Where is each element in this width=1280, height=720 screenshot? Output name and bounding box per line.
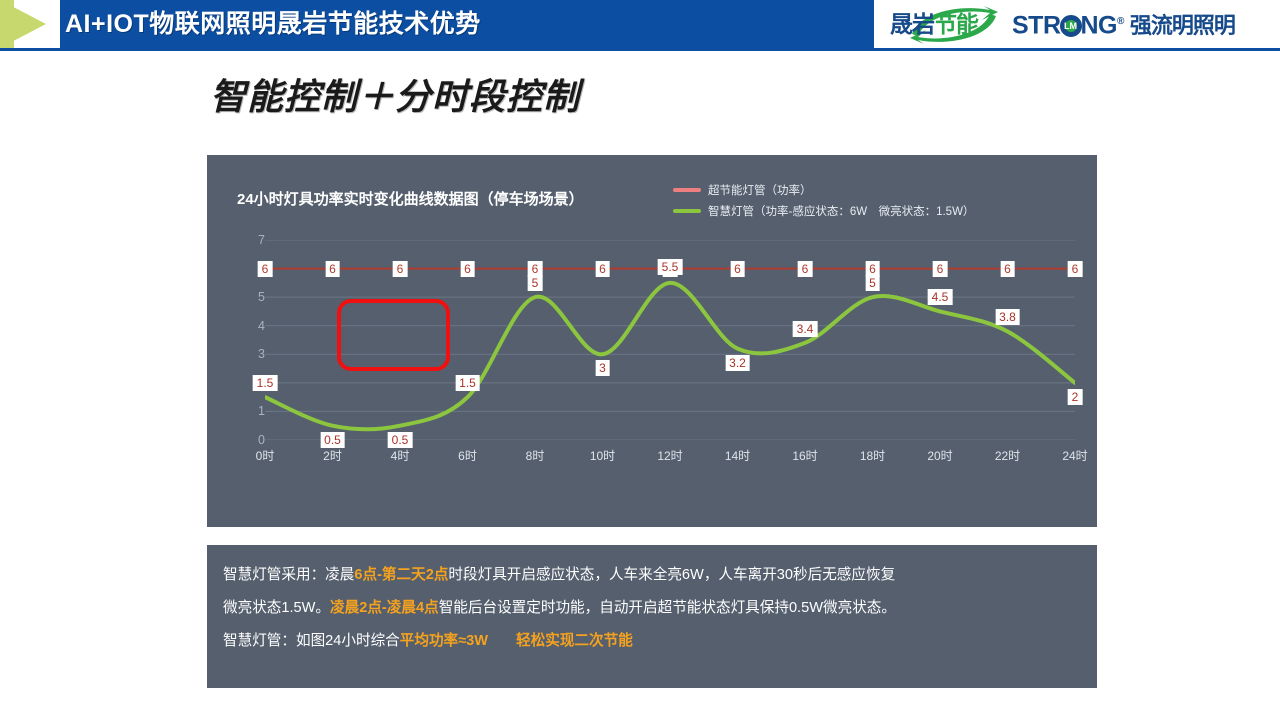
header-arrow-decoration — [0, 0, 60, 48]
header-underline — [0, 48, 1280, 51]
x-axis-tick: 24时 — [1062, 447, 1087, 464]
x-axis-tick: 20时 — [927, 447, 952, 464]
data-point-label: 3.8 — [995, 309, 1020, 325]
notes-line-3-a: 智慧灯管：如图24小时综合 — [223, 633, 400, 649]
x-axis-tick: 4时 — [391, 447, 410, 464]
x-axis-tick: 16时 — [792, 447, 817, 464]
x-axis-tick: 6时 — [458, 447, 477, 464]
data-point-label: 3.4 — [793, 321, 818, 337]
x-axis-tick: 18时 — [860, 447, 885, 464]
notes-line-1-b: 时段灯具开启感应状态，人车来全亮6W，人车离开30秒后无感应恢复 — [448, 567, 895, 583]
data-point-label: 5.5 — [658, 259, 683, 275]
notes-line-3-highlight-1: 平均功率≈3W — [400, 633, 488, 649]
x-axis-tick: 22时 — [995, 447, 1020, 464]
data-point-label: 5 — [865, 275, 880, 291]
logo-text-green: 节能 — [934, 11, 978, 37]
y-axis-tick: 4 — [243, 319, 265, 333]
x-axis-labels: 0时2时4时6时8时10时12时14时16时18时20时22时24时 — [265, 447, 1075, 469]
notes-line-3-highlight-2: 轻松实现二次节能 — [516, 633, 633, 649]
page-title: AI+IOT物联网照明晟岩节能技术优势 — [65, 8, 481, 40]
chart-legend: 超节能灯管（功率） 智慧灯管（功率-感应状态：6W 微亮状态：1.5W） — [673, 179, 974, 221]
data-point-label: 6 — [393, 261, 408, 277]
logo-brand-strong: STRLMNG® — [1012, 7, 1124, 40]
notes-line-1: 智慧灯管采用：凌晨6点-第二天2点时段灯具开启感应状态，人车来全亮6W，人车离开… — [223, 559, 1081, 592]
logo-badge-text: LM — [1065, 20, 1077, 32]
slide-root: AI+IOT物联网照明晟岩节能技术优势 晟岩节能 STRLMNG® 强流明照明 … — [0, 0, 1280, 720]
data-point-label: 0.5 — [388, 432, 413, 448]
data-point-label: 6 — [460, 261, 475, 277]
data-point-label: 5 — [528, 275, 543, 291]
legend-label-series-1: 智慧灯管（功率-感应状态：6W 微亮状态：1.5W） — [708, 203, 974, 219]
legend-item: 智慧灯管（功率-感应状态：6W 微亮状态：1.5W） — [673, 200, 974, 221]
data-point-label: 6 — [595, 261, 610, 277]
logo-chinese-name: 晟岩节能 — [890, 10, 978, 38]
legend-swatch-series-1 — [673, 209, 701, 213]
chart-panel: 24小时灯具功率实时变化曲线数据图（停车场场景） 超节能灯管（功率） 智慧灯管（… — [207, 155, 1097, 527]
data-point-label: 1.5 — [455, 375, 480, 391]
y-axis-tick: 1 — [243, 404, 265, 418]
notes-line-2-a: 微亮状态1.5W。 — [223, 600, 330, 616]
notes-panel: 智慧灯管采用：凌晨6点-第二天2点时段灯具开启感应状态，人车来全亮6W，人车离开… — [207, 545, 1097, 688]
notes-line-2-b: 智能后台设置定时功能，自动开启超节能状态灯具保持0.5W微亮状态。 — [439, 600, 896, 616]
data-point-label: 6 — [258, 261, 273, 277]
legend-swatch-series-0 — [673, 188, 701, 192]
y-axis-tick: 5 — [243, 290, 265, 304]
data-point-label: 6 — [798, 261, 813, 277]
logo-brand-tail: NG — [1081, 12, 1118, 40]
logo-brand-chinese: 强流明照明 — [1130, 8, 1235, 40]
slide-subtitle: 智能控制＋分时段控制 — [210, 68, 580, 120]
y-axis-tick: 7 — [243, 233, 265, 247]
y-axis-tick: 0 — [243, 433, 265, 447]
legend-item: 超节能灯管（功率） — [673, 179, 974, 200]
logo-o-badge-icon: LM — [1060, 15, 1082, 37]
data-point-label: 6 — [730, 261, 745, 277]
notes-line-1-highlight: 6点-第二天2点 — [354, 567, 448, 583]
data-point-label: 3.2 — [725, 355, 750, 371]
notes-line-2: 微亮状态1.5W。凌晨2点-凌晨4点智能后台设置定时功能，自动开启超节能状态灯具… — [223, 592, 1081, 625]
x-axis-tick: 0时 — [256, 447, 275, 464]
data-point-label: 6 — [933, 261, 948, 277]
notes-line-2-highlight: 凌晨2点-凌晨4点 — [330, 600, 439, 616]
notes-line-1-a: 智慧灯管采用：凌晨 — [223, 567, 354, 583]
registered-mark-icon: ® — [1117, 16, 1124, 27]
data-point-label: 1.5 — [253, 375, 278, 391]
data-point-label: 6 — [1068, 261, 1083, 277]
x-axis-tick: 12时 — [657, 447, 682, 464]
data-point-label: 6 — [325, 261, 340, 277]
company-logo: 晟岩节能 STRLMNG® 强流明照明 — [874, 0, 1280, 48]
data-point-label: 6 — [1000, 261, 1015, 277]
x-axis-tick: 14时 — [725, 447, 750, 464]
data-point-label: 3 — [595, 360, 610, 376]
logo-mark: 晟岩节能 — [888, 2, 1006, 46]
logo-text-blue: 晟岩 — [890, 11, 934, 37]
legend-label-series-0: 超节能灯管（功率） — [708, 182, 812, 198]
y-axis-tick: 3 — [243, 347, 265, 361]
logo-brand-head: STR — [1012, 12, 1061, 40]
series-line-smart-tube — [265, 283, 1075, 429]
chart-title: 24小时灯具功率实时变化曲线数据图（停车场场景） — [237, 188, 584, 209]
data-point-label: 2 — [1068, 389, 1083, 405]
data-point-label: 4.5 — [928, 289, 953, 305]
notes-line-3: 智慧灯管：如图24小时综合平均功率≈3W轻松实现二次节能 — [223, 625, 1081, 658]
x-axis-tick: 10时 — [590, 447, 615, 464]
x-axis-tick: 8时 — [526, 447, 545, 464]
x-axis-tick: 2时 — [323, 447, 342, 464]
data-point-label: 0.5 — [320, 432, 345, 448]
